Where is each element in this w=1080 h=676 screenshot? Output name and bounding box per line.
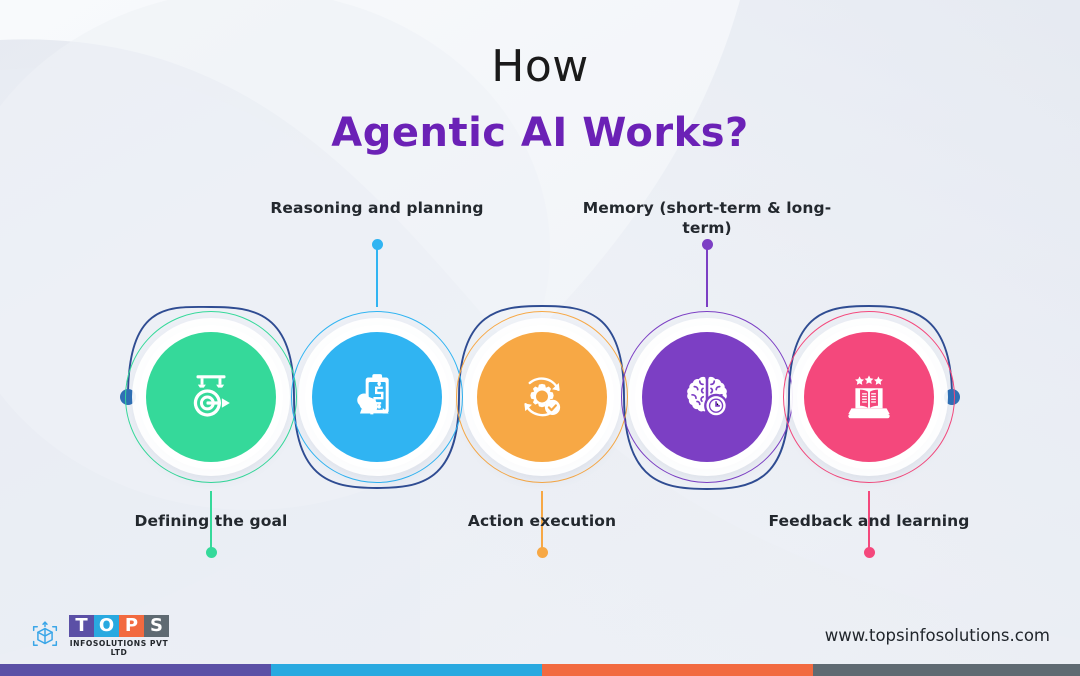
gear-refresh-check-icon <box>513 368 571 426</box>
title-block: How Agentic AI Works? <box>0 44 1080 154</box>
step-4-circle[interactable] <box>642 332 772 462</box>
laptop-book-stars-icon <box>840 368 898 426</box>
brain-clock-icon <box>678 368 736 426</box>
step-1-disc[interactable] <box>121 307 301 487</box>
step-1-circle[interactable] <box>146 332 276 462</box>
bottom-bar-segment-4 <box>813 664 1080 676</box>
bottom-bar-segment-2 <box>271 664 542 676</box>
company-logo[interactable]: T O P S INFOSOLUTIONS PVT LTD <box>28 615 169 657</box>
step-2-stem-dot <box>372 239 383 250</box>
logo-letter-p: P <box>119 615 144 637</box>
step-4-disc[interactable] <box>617 307 797 487</box>
title-line-1: How <box>0 44 1080 90</box>
step-5-disc[interactable] <box>779 307 959 487</box>
logo-letter-s: S <box>144 615 169 637</box>
step-2-stem <box>376 245 378 307</box>
step-4-stem <box>706 245 708 307</box>
step-5-circle[interactable] <box>804 332 934 462</box>
logo-text: T O P S INFOSOLUTIONS PVT LTD <box>69 615 169 657</box>
bottom-bar-segment-3 <box>542 664 813 676</box>
strategy-clipboard-head-icon <box>348 368 406 426</box>
logo-letter-t: T <box>69 615 94 637</box>
logo-wordmark: T O P S <box>69 615 169 637</box>
logo-letter-o: O <box>94 615 119 637</box>
step-2-label: Reasoning and planning <box>247 198 507 218</box>
step-1-label: Defining the goal <box>81 511 341 531</box>
infographic-canvas: How Agentic AI Works? <box>0 0 1080 676</box>
step-3-label: Action execution <box>412 511 672 531</box>
step-3-circle[interactable] <box>477 332 607 462</box>
cube-arrows-icon <box>28 619 62 653</box>
step-2-disc[interactable] <box>287 307 467 487</box>
website-url[interactable]: www.topsinfosolutions.com <box>825 626 1050 645</box>
target-goal-icon <box>182 368 240 426</box>
step-4-label: Memory (short-term & long-term) <box>577 198 837 239</box>
bottom-color-bar <box>0 664 1080 676</box>
bottom-bar-segment-1 <box>0 664 271 676</box>
step-1-stem-dot <box>206 547 217 558</box>
step-4-stem-dot <box>702 239 713 250</box>
title-line-2: Agentic AI Works? <box>0 112 1080 154</box>
logo-tagline: INFOSOLUTIONS PVT LTD <box>69 639 169 657</box>
step-2-circle[interactable] <box>312 332 442 462</box>
step-5-label: Feedback and learning <box>739 511 999 531</box>
step-5-stem-dot <box>864 547 875 558</box>
step-3-stem-dot <box>537 547 548 558</box>
step-3-disc[interactable] <box>452 307 632 487</box>
